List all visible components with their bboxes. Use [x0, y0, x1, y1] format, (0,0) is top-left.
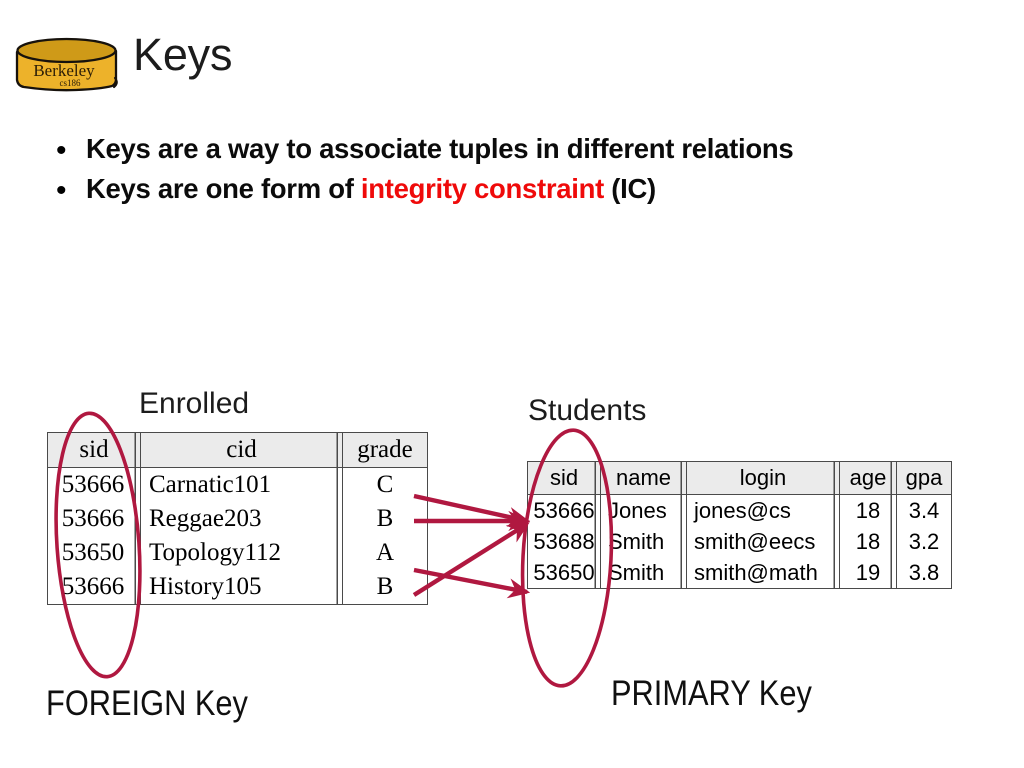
cell-cid: Carnatic101: [141, 468, 343, 503]
cell-sid: 53650: [528, 557, 601, 589]
cell-cid: Topology112: [141, 536, 343, 570]
arrow-row1-to-53666: [414, 496, 527, 521]
annotation-overlay: [0, 0, 1024, 768]
cell-cid: Reggae203: [141, 502, 343, 536]
cell-name: Jones: [601, 495, 687, 527]
berkeley-cs186-database-logo: Berkeley cs186: [12, 36, 122, 94]
bullet-text: Keys are a way to associate tuples in di…: [86, 133, 952, 165]
cell-sid: 53666: [48, 570, 141, 605]
arrow-row3-to-53650: [414, 570, 527, 592]
page-title: Keys: [133, 32, 232, 77]
column-header-sid: sid: [528, 462, 601, 495]
cell-name: Smith: [601, 526, 687, 557]
cell-login: smith@math: [687, 557, 840, 589]
table-header-row: sid name login age gpa: [528, 462, 952, 495]
table-row: 53666 Jones jones@cs 18 3.4: [528, 495, 952, 527]
cell-sid: 53650: [48, 536, 141, 570]
cell-login: smith@eecs: [687, 526, 840, 557]
cell-age: 18: [840, 526, 897, 557]
bullet-list: • Keys are a way to associate tuples in …: [52, 133, 952, 213]
column-header-login: login: [687, 462, 840, 495]
students-table: sid name login age gpa 53666 Jones jones…: [527, 461, 952, 589]
cell-grade: A: [343, 536, 428, 570]
column-header-grade: grade: [343, 433, 428, 468]
bullet-text: Keys are one form of integrity constrain…: [86, 173, 952, 205]
table-header-row: sid cid grade: [48, 433, 428, 468]
cell-grade: B: [343, 570, 428, 605]
cell-age: 19: [840, 557, 897, 589]
bullet-dot-icon: •: [52, 133, 86, 169]
table-row: 53666 Reggae203 B: [48, 502, 428, 536]
slide-canvas: Berkeley cs186 Keys • Keys are a way to …: [0, 0, 1024, 768]
cell-gpa: 3.4: [897, 495, 952, 527]
column-header-age: age: [840, 462, 897, 495]
bullet-segment: Keys are one form of: [86, 173, 361, 204]
list-item: • Keys are a way to associate tuples in …: [52, 133, 952, 169]
enrolled-table-label: Enrolled: [139, 389, 249, 419]
cell-grade: B: [343, 502, 428, 536]
list-item: • Keys are one form of integrity constra…: [52, 173, 952, 209]
cell-sid: 53666: [528, 495, 601, 527]
bullet-segment: (IC): [604, 173, 656, 204]
cell-login: jones@cs: [687, 495, 840, 527]
bullet-dot-icon: •: [52, 173, 86, 209]
arrow-row4-to-53666: [414, 524, 527, 595]
cell-sid: 53666: [48, 468, 141, 503]
table-row: 53650 Smith smith@math 19 3.8: [528, 557, 952, 589]
cell-gpa: 3.8: [897, 557, 952, 589]
bullet-segment-highlight: integrity constraint: [361, 173, 604, 204]
logo-secondary-text: cs186: [60, 78, 81, 88]
bullet-segment: Keys are a way to associate tuples in di…: [86, 133, 793, 164]
primary-key-label: PRIMARY Key: [611, 676, 812, 711]
cell-cid: History105: [141, 570, 343, 605]
table-row: 53666 History105 B: [48, 570, 428, 605]
column-header-gpa: gpa: [897, 462, 952, 495]
cell-name: Smith: [601, 557, 687, 589]
cell-gpa: 3.2: [897, 526, 952, 557]
column-header-name: name: [601, 462, 687, 495]
table-row: 53650 Topology112 A: [48, 536, 428, 570]
cell-grade: C: [343, 468, 428, 503]
table-row: 53688 Smith smith@eecs 18 3.2: [528, 526, 952, 557]
table-row: 53666 Carnatic101 C: [48, 468, 428, 503]
column-header-cid: cid: [141, 433, 343, 468]
cell-sid: 53688: [528, 526, 601, 557]
cell-age: 18: [840, 495, 897, 527]
column-header-sid: sid: [48, 433, 141, 468]
cell-sid: 53666: [48, 502, 141, 536]
students-table-label: Students: [528, 396, 646, 426]
foreign-key-label: FOREIGN Key: [46, 686, 248, 721]
enrolled-table: sid cid grade 53666 Carnatic101 C 53666 …: [47, 432, 428, 605]
